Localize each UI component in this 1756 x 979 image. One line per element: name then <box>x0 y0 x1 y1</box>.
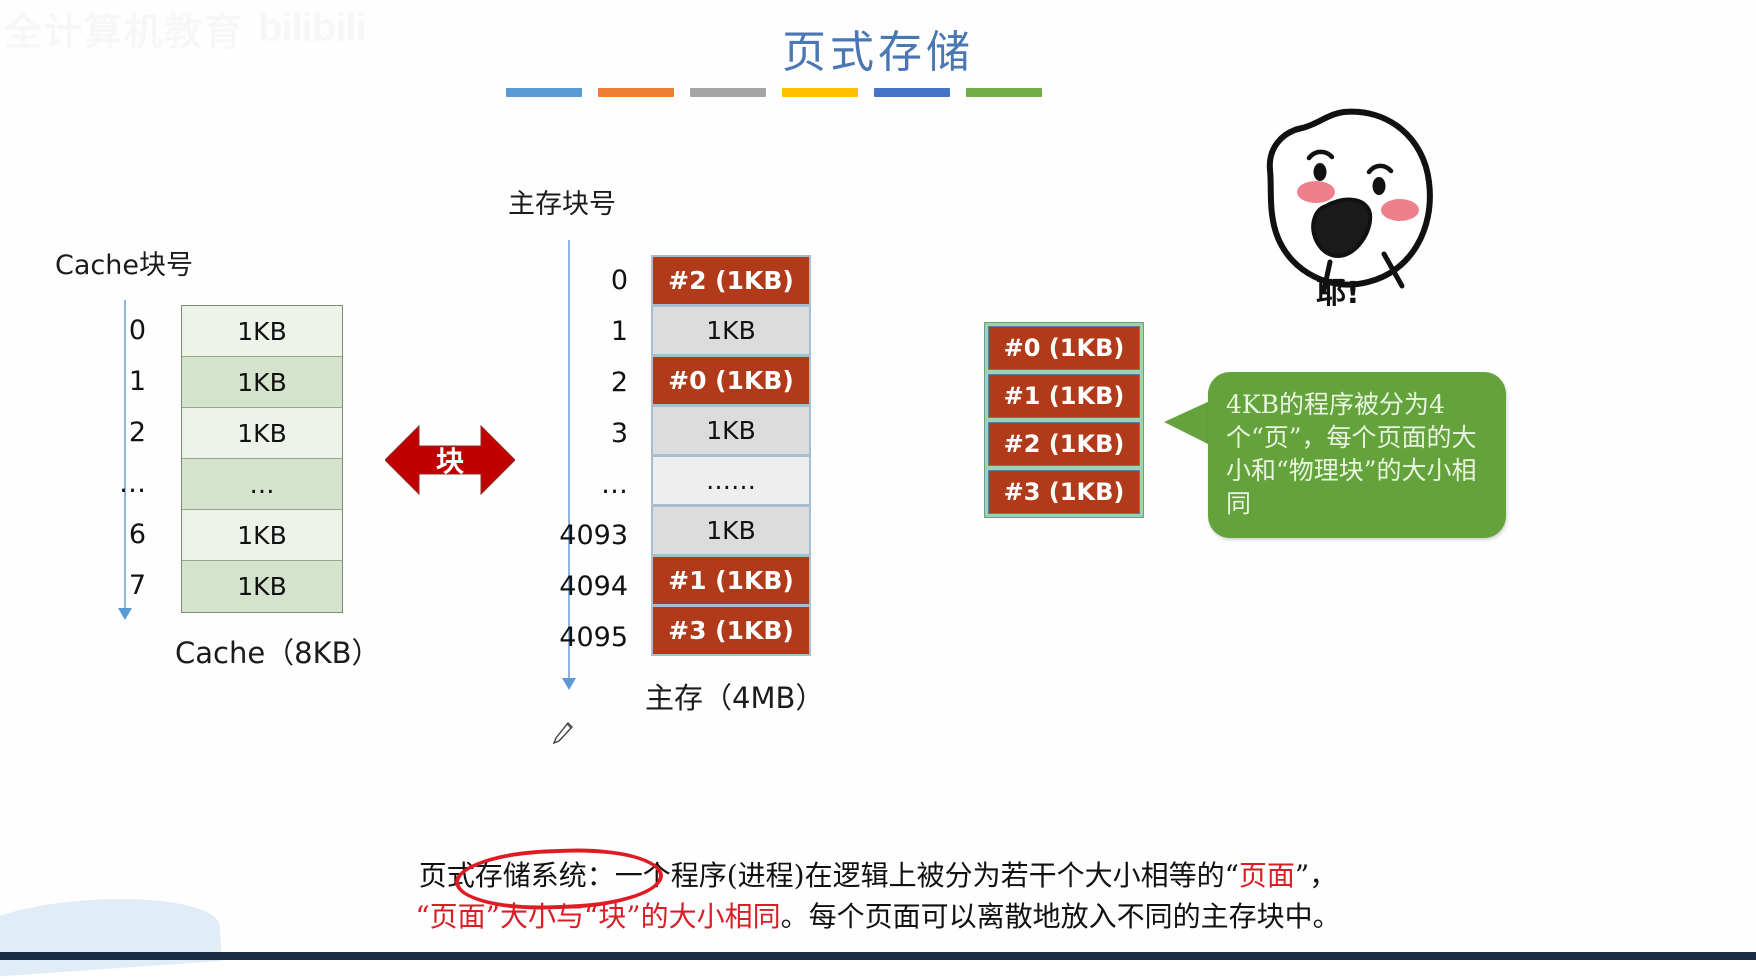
cache-row-index: … <box>96 458 158 509</box>
memory-cell: 1KB <box>651 505 811 556</box>
memory-cell: #1 (1KB) <box>651 555 811 606</box>
pen-cursor-icon <box>552 722 574 748</box>
memory-table: #2 (1KB) 1KB #0 (1KB) 1KB …… 1KB #1 (1KB… <box>651 255 811 655</box>
memory-cell: #3 (1KB) <box>651 605 811 656</box>
caption-line1-part2: ”， <box>1295 859 1337 892</box>
title-bar-1 <box>506 88 582 97</box>
title-bar-6 <box>966 88 1042 97</box>
cache-row-index: 1 <box>96 356 158 407</box>
memory-cell: #2 (1KB) <box>651 255 811 306</box>
cache-cell: … <box>182 459 342 510</box>
pencil-icon <box>552 722 574 748</box>
bottom-caption: 页式存储系统：一个程序(进程)在逻辑上被分为若干个大小相等的“页面”， “页面”… <box>0 856 1756 937</box>
memory-row-indices: 0 1 2 3 … 4093 4094 4095 <box>540 255 640 663</box>
cache-cell: 1KB <box>182 306 342 357</box>
block-arrow-label: 块 <box>385 420 515 500</box>
title-bar-5 <box>874 88 950 97</box>
caption-line2-highlight: “页面”大小与“块”的大小相同 <box>415 900 780 933</box>
cache-row-index: 2 <box>96 407 158 458</box>
cache-row-index: 6 <box>96 509 158 560</box>
speech-bubble: 4KB的程序被分为4个“页”，每个页面的大小和“物理块”的大小相同 <box>1208 372 1506 538</box>
cache-cell: 1KB <box>182 408 342 459</box>
caption-line1-part1: 页式存储系统：一个程序(进程)在逻辑上被分为若干个大小相等的“ <box>419 859 1239 892</box>
cache-table: 1KB 1KB 1KB … 1KB 1KB <box>181 305 343 613</box>
cache-caption: Cache（8KB） <box>175 630 381 672</box>
page-title: 页式存储 <box>0 16 1756 80</box>
cache-cell: 1KB <box>182 510 342 561</box>
title-bar-2 <box>598 88 674 97</box>
title-decoration-bars <box>506 88 1042 97</box>
memory-row-index: 1 <box>540 306 640 357</box>
caption-line2: “页面”大小与“块”的大小相同。每个页面可以离散地放入不同的主存块中。 <box>0 897 1756 938</box>
cache-row-index: 0 <box>96 305 158 356</box>
program-pages-block: #0 (1KB) #1 (1KB) #2 (1KB) #3 (1KB) <box>984 322 1144 518</box>
memory-axis-label: 主存块号 <box>508 182 616 221</box>
cache-axis-label: Cache块号 <box>55 243 193 282</box>
memory-cell: 1KB <box>651 405 811 456</box>
caption-line2-rest: 。每个页面可以离散地放入不同的主存块中。 <box>781 900 1341 933</box>
program-page-cell: #1 (1KB) <box>988 374 1140 418</box>
memory-caption: 主存（4MB） <box>645 675 824 717</box>
speech-bubble-tail <box>1164 400 1212 446</box>
memory-row-index: 4094 <box>540 561 640 612</box>
title-bar-4 <box>782 88 858 97</box>
memory-row-index: 4093 <box>540 510 640 561</box>
memory-row-index: 2 <box>540 357 640 408</box>
cache-row-indices: 0 1 2 … 6 7 <box>96 305 158 611</box>
caption-line1-highlight: 页面 <box>1239 859 1295 892</box>
program-page-cell: #0 (1KB) <box>988 326 1140 370</box>
memory-cell: #0 (1KB) <box>651 355 811 406</box>
memory-cell: 1KB <box>651 305 811 356</box>
title-bar-3 <box>690 88 766 97</box>
memory-row-index: … <box>540 459 640 510</box>
memory-cell: …… <box>651 455 811 506</box>
slide-canvas: 全计算机教育 bilibili 页式存储 Cache块号 0 1 2 … 6 7… <box>0 0 1756 960</box>
character-exclamation: 耶! <box>1316 268 1360 312</box>
memory-row-index: 3 <box>540 408 640 459</box>
program-page-cell: #3 (1KB) <box>988 470 1140 514</box>
cache-cell: 1KB <box>182 357 342 408</box>
block-double-arrow: 块 <box>385 420 515 500</box>
program-page-cell: #2 (1KB) <box>988 422 1140 466</box>
memory-row-index: 0 <box>540 255 640 306</box>
memory-row-index: 4095 <box>540 612 640 663</box>
cache-cell: 1KB <box>182 561 342 612</box>
cache-row-index: 7 <box>96 560 158 611</box>
bottom-bar <box>0 952 1756 960</box>
